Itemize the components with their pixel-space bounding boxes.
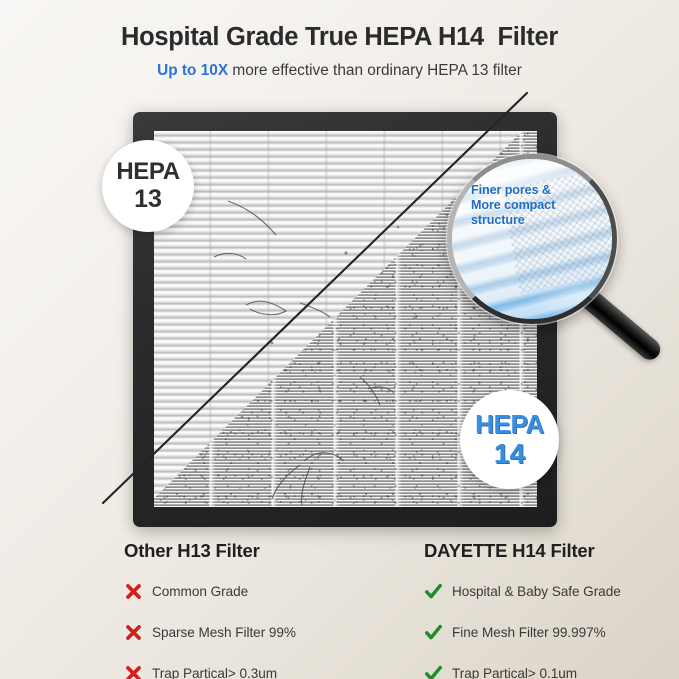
badge-hepa-14-label: HEPA: [475, 412, 544, 437]
header: Hospital Grade True HEPA H14 Filter Up t…: [0, 22, 679, 80]
feature-row: Trap Partical> 0.3um: [124, 658, 379, 679]
magnifier-caption: Finer pores & More compact structure: [471, 183, 555, 228]
subtitle-rest: more effective than ordinary HEPA 13 fil…: [228, 62, 522, 79]
check-mark-icon: [424, 582, 443, 601]
badge-hepa-14-value: 14: [494, 440, 525, 467]
feature-row: Hospital & Baby Safe Grade: [424, 576, 679, 607]
badge-hepa-13-label: HEPA: [116, 160, 179, 184]
x-mark-icon: [124, 582, 143, 601]
magnifying-glass: Finer pores & More compact structure: [447, 154, 647, 354]
feature-label: Trap Partical> 0.1um: [452, 666, 577, 679]
comparison-column-other-h13: Other H13 Filter Common Grade Sparse Mes…: [0, 540, 379, 679]
column-heading-other-h13: Other H13 Filter: [124, 540, 379, 562]
feature-row: Fine Mesh Filter 99.997%: [424, 617, 679, 648]
page-subtitle: Up to 10X more effective than ordinary H…: [0, 62, 679, 80]
feature-row: Common Grade: [124, 576, 379, 607]
subtitle-highlight: Up to 10X: [157, 62, 228, 79]
comparison-section: Other H13 Filter Common Grade Sparse Mes…: [0, 540, 679, 679]
x-mark-icon: [124, 664, 143, 679]
badge-hepa-13: HEPA 13: [102, 140, 194, 232]
magnifier-lens-ring: Finer pores & More compact structure: [447, 154, 617, 324]
check-mark-icon: [424, 664, 443, 679]
feature-label: Sparse Mesh Filter 99%: [152, 625, 296, 640]
badge-hepa-13-value: 13: [134, 187, 162, 212]
page-title: Hospital Grade True HEPA H14 Filter: [0, 22, 679, 53]
badge-hepa-14: HEPA 14: [460, 390, 559, 489]
feature-label: Trap Partical> 0.3um: [152, 666, 277, 679]
feature-label: Common Grade: [152, 584, 248, 599]
feature-row: Sparse Mesh Filter 99%: [124, 617, 379, 648]
column-heading-dayette-h14: DAYETTE H14 Filter: [424, 540, 679, 562]
check-mark-icon: [424, 623, 443, 642]
feature-label: Hospital & Baby Safe Grade: [452, 584, 621, 599]
x-mark-icon: [124, 623, 143, 642]
comparison-column-dayette-h14: DAYETTE H14 Filter Hospital & Baby Safe …: [379, 540, 679, 679]
feature-row: Trap Partical> 0.1um: [424, 658, 679, 679]
product-infographic: Hospital Grade True HEPA H14 Filter Up t…: [0, 0, 679, 679]
feature-label: Fine Mesh Filter 99.997%: [452, 625, 606, 640]
